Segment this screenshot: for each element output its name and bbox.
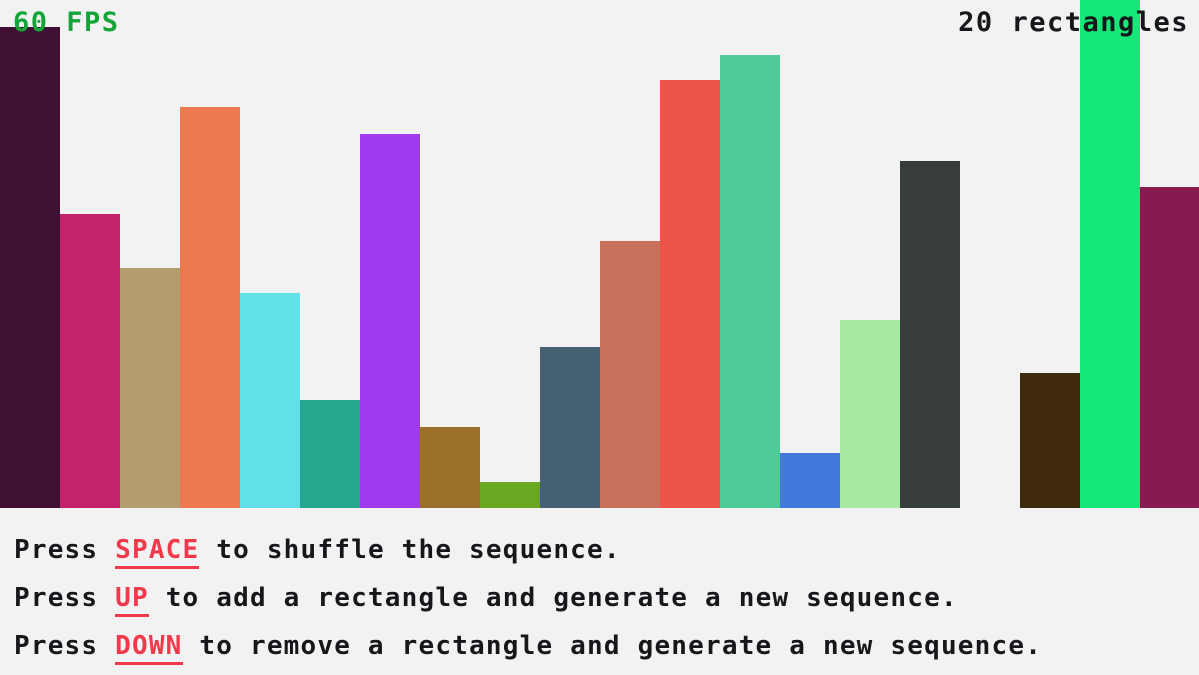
rectangle-count-label: 20 rectangles	[958, 9, 1189, 36]
bar-9-olive-green	[480, 482, 540, 508]
bar-11-terracotta	[600, 241, 660, 508]
bar-16-charcoal	[900, 161, 960, 508]
key-up[interactable]: UP	[115, 583, 149, 617]
bar-2-magenta	[60, 214, 120, 508]
key-down[interactable]: DOWN	[115, 631, 182, 665]
fps-counter: 60 FPS	[13, 9, 120, 36]
bar-13-mint	[720, 55, 780, 508]
instruction-suffix: to remove a rectangle and generate a new…	[183, 631, 1043, 661]
bar-3-tan	[120, 268, 180, 508]
instruction-suffix: to add a rectangle and generate a new se…	[149, 583, 958, 613]
instruction-prefix: Press	[14, 535, 115, 565]
bar-20-dark-magenta	[1140, 187, 1199, 508]
bar-4-orange	[180, 107, 240, 508]
bar-8-ochre	[420, 427, 480, 508]
bar-5-cyan	[240, 293, 300, 508]
instructions-panel: Press SPACE to shuffle the sequence.Pres…	[0, 508, 1199, 675]
instruction-line-1: Press SPACE to shuffle the sequence.	[14, 526, 1199, 574]
bar-1-dark-plum	[0, 27, 60, 508]
instruction-suffix: to shuffle the sequence.	[199, 535, 620, 565]
instruction-line-2: Press UP to add a rectangle and generate…	[14, 574, 1199, 622]
instruction-prefix: Press	[14, 631, 115, 661]
key-space[interactable]: SPACE	[115, 535, 199, 569]
bar-6-teal	[300, 400, 360, 508]
bar-10-slate-blue	[540, 347, 600, 508]
instruction-line-3: Press DOWN to remove a rectangle and gen…	[14, 622, 1199, 670]
bar-14-blue	[780, 453, 840, 508]
bar-19-bright-green	[1080, 0, 1140, 508]
app-canvas: 60 FPS 20 rectangles Press SPACE to shuf…	[0, 0, 1199, 675]
bar-18-dark-brown	[1020, 373, 1080, 508]
bar-chart	[0, 0, 1199, 508]
bar-15-light-green	[840, 320, 900, 508]
bar-12-red	[660, 80, 720, 508]
bar-7-purple	[360, 134, 420, 508]
instruction-prefix: Press	[14, 583, 115, 613]
